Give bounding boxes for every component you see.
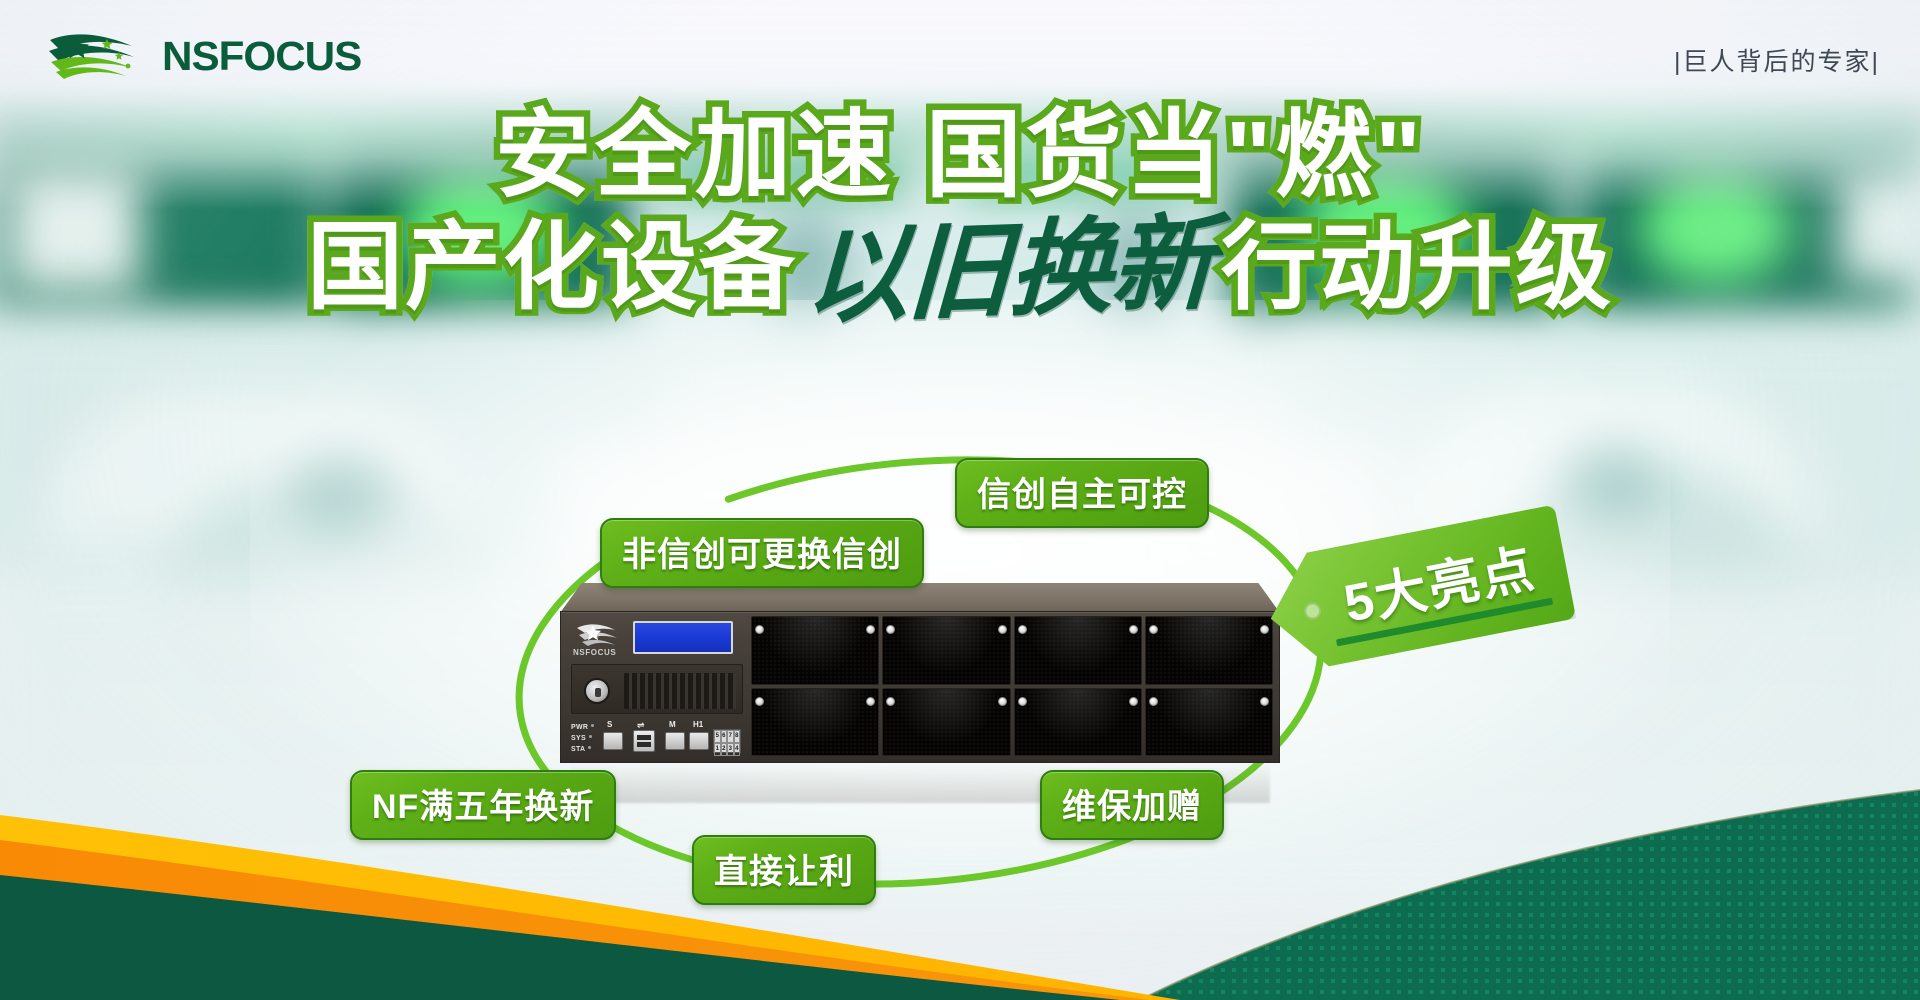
drive-bay [751,688,879,757]
server-front-panel: NSFOCUS PWR SYS STA S ⇌ M [560,611,1280,763]
server-dip-switch: 5678 1234 [713,729,741,753]
drive-bay [1145,688,1273,757]
server-status-leds: PWR SYS STA [571,722,594,755]
server-port-s [603,732,623,750]
banner-canvas: NSFOCUS PWR SYS STA S ⇌ M [0,0,1920,1000]
server-control-section: NSFOCUS PWR SYS STA S ⇌ M [567,616,745,758]
server-vents [624,673,736,709]
headline-brush-calligraphy: 以旧换新 [803,211,1214,329]
nsfocus-flag-star-logo-icon [44,30,148,82]
usb-icon [633,730,655,752]
headline-line-2-prefix: 国产化设备 [307,220,797,316]
feature-badge-direct-discount[interactable]: 直接让利 [692,835,876,905]
headline-line-2: 国产化设备以旧换新行动升级 [0,218,1920,322]
server-port-h1 [689,732,709,750]
feature-badge-warranty-bonus[interactable]: 维保加赠 [1040,770,1224,840]
feature-badge-nf-five-year-renew[interactable]: NF满五年换新 [350,770,616,840]
feature-badge-non-xinchuang-replace[interactable]: 非信创可更换信创 [600,518,924,588]
feature-badge-xinchuang-autonomous[interactable]: 信创自主可控 [955,458,1209,528]
server-lcd-display [633,621,733,654]
headline-block: 安全加速 国货当"燃" 国产化设备以旧换新行动升级 [0,108,1920,322]
drive-bay [751,616,879,685]
brand-logo-text: NSFOCUS [162,33,361,80]
server-drive-module [571,664,743,714]
product-server-appliance: NSFOCUS PWR SYS STA S ⇌ M [560,583,1280,763]
server-brand-label: NSFOCUS [573,648,616,657]
headline-line-2-suffix: 行动升级 [1221,220,1613,316]
drive-bay [1014,616,1142,685]
server-port-row: PWR SYS STA S ⇌ M H1 5678 1234 [571,718,747,760]
server-port-m [665,732,685,750]
drive-bay [1014,688,1142,757]
drive-bay [882,616,1010,685]
brand-tagline: |巨人背后的专家| [1674,42,1880,78]
lock-icon [584,678,610,704]
headline-line-1: 安全加速 国货当"燃" [0,108,1920,204]
server-drive-bays [751,616,1273,756]
brand-logo[interactable]: NSFOCUS [44,30,355,82]
drive-bay [882,688,1010,757]
drive-bay [1145,616,1273,685]
headline-line-1-text: 安全加速 国货当"燃" [495,108,1425,204]
